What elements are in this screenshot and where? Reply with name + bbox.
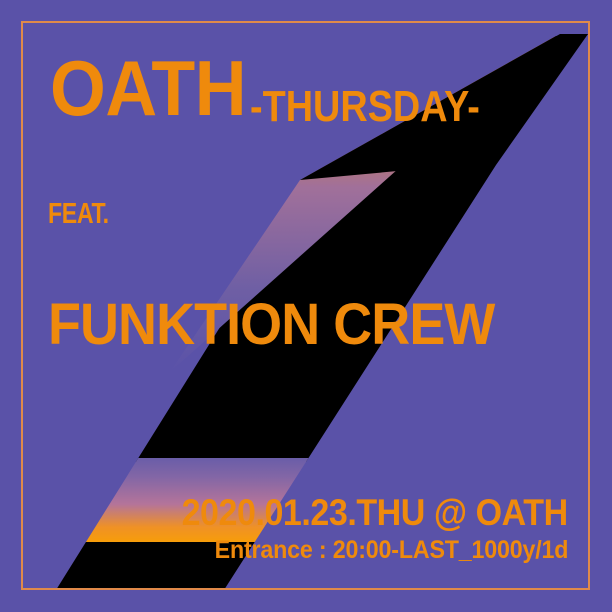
page-title: OATH [50, 49, 246, 127]
entrance-info: Entrance : 20:00-LAST_1000y/1d [214, 538, 568, 563]
text-layer: OATH -THURSDAY- FEAT. FUNKTION CREW 2020… [0, 0, 612, 612]
day-tag: -THURSDAY- [250, 85, 480, 129]
artist-name: FUNKTION CREW [48, 296, 494, 354]
poster-canvas: OATH -THURSDAY- FEAT. FUNKTION CREW 2020… [0, 0, 612, 612]
event-date: 2020.01.23.THU @ OATH [182, 494, 568, 531]
feat-label: FEAT. [48, 200, 109, 229]
